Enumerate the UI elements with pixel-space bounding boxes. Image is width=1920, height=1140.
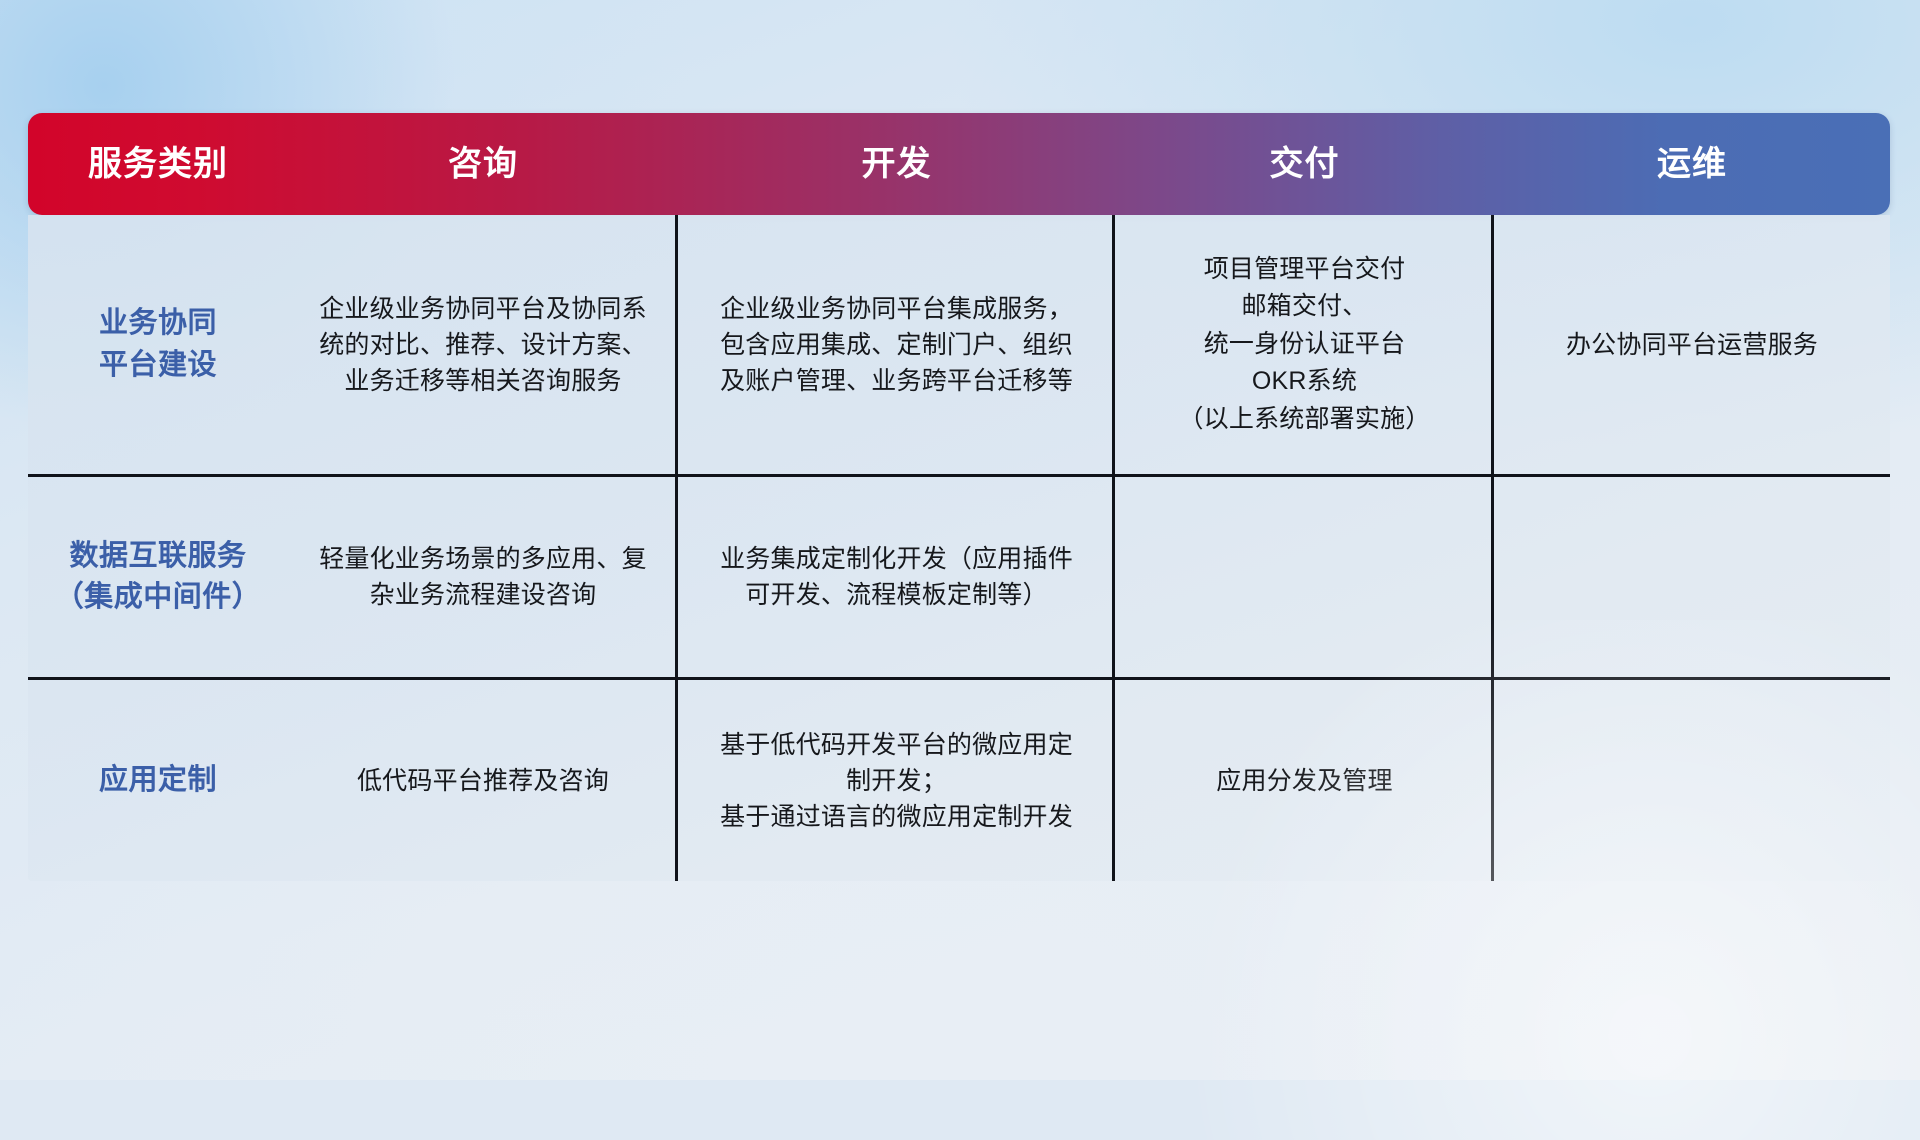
row-label-cell: 应用定制 [28, 680, 288, 881]
table-row: 应用定制 低代码平台推荐及咨询 基于低代码开发平台的微应用定 制开发； 基于通过… [28, 677, 1890, 881]
table-row: 数据互联服务 （集成中间件） 轻量化业务场景的多应用、复 杂业务流程建设咨询 业… [28, 474, 1890, 677]
cell-consulting: 低代码平台推荐及咨询 [288, 680, 678, 881]
cell-operations [1494, 680, 1890, 881]
column-header-service-category: 服务类别 [28, 147, 288, 181]
cell-delivery: 应用分发及管理 [1115, 680, 1494, 881]
cell-operations [1494, 477, 1890, 677]
cell-development: 企业级业务协同平台集成服务， 包含应用集成、定制门户、组织 及账户管理、业务跨平… [678, 215, 1115, 474]
service-matrix-table: 服务类别 咨询 开发 交付 运维 业务协同 平台建设 企业级业务协同平台及协同系… [28, 113, 1890, 881]
slide-canvas: 服务类别 咨询 开发 交付 运维 业务协同 平台建设 企业级业务协同平台及协同系… [0, 0, 1920, 1080]
column-header-delivery: 交付 [1115, 147, 1494, 181]
column-header-development: 开发 [678, 147, 1115, 181]
column-header-operations: 运维 [1494, 147, 1890, 181]
row-label-cell: 业务协同 平台建设 [28, 215, 288, 474]
cell-operations: 办公协同平台运营服务 [1494, 215, 1890, 474]
cell-text: 业务集成定制化开发（应用插件 可开发、流程模板定制等） [720, 541, 1073, 613]
row-label-text: 数据互联服务 （集成中间件） [55, 536, 262, 618]
cell-text: 企业级业务协同平台集成服务， 包含应用集成、定制门户、组织 及账户管理、业务跨平… [720, 291, 1073, 399]
cell-text: 项目管理平台交付 邮箱交付、 统一身份认证平台 OKR系统 （以上系统部署实施） [1178, 251, 1430, 439]
cell-text: 基于低代码开发平台的微应用定 制开发； 基于通过语言的微应用定制开发 [720, 727, 1073, 835]
cell-delivery: 项目管理平台交付 邮箱交付、 统一身份认证平台 OKR系统 （以上系统部署实施） [1115, 215, 1494, 474]
cell-text: 应用分发及管理 [1216, 763, 1392, 799]
cell-development: 业务集成定制化开发（应用插件 可开发、流程模板定制等） [678, 477, 1115, 677]
cell-text: 低代码平台推荐及咨询 [357, 763, 609, 799]
cell-delivery [1115, 477, 1494, 677]
row-label-text: 应用定制 [99, 760, 217, 801]
cell-consulting: 企业级业务协同平台及协同系 统的对比、推荐、设计方案、 业务迁移等相关咨询服务 [288, 215, 678, 474]
cell-text: 企业级业务协同平台及协同系 统的对比、推荐、设计方案、 业务迁移等相关咨询服务 [319, 291, 647, 399]
table-body: 业务协同 平台建设 企业级业务协同平台及协同系 统的对比、推荐、设计方案、 业务… [28, 215, 1890, 881]
row-label-text: 业务协同 平台建设 [99, 303, 217, 385]
table-row: 业务协同 平台建设 企业级业务协同平台及协同系 统的对比、推荐、设计方案、 业务… [28, 215, 1890, 474]
row-label-cell: 数据互联服务 （集成中间件） [28, 477, 288, 677]
table-header-row: 服务类别 咨询 开发 交付 运维 [28, 113, 1890, 215]
cell-development: 基于低代码开发平台的微应用定 制开发； 基于通过语言的微应用定制开发 [678, 680, 1115, 881]
cell-text: 轻量化业务场景的多应用、复 杂业务流程建设咨询 [319, 541, 647, 613]
cell-consulting: 轻量化业务场景的多应用、复 杂业务流程建设咨询 [288, 477, 678, 677]
column-header-consulting: 咨询 [288, 147, 678, 181]
cell-text: 办公协同平台运营服务 [1566, 327, 1818, 363]
